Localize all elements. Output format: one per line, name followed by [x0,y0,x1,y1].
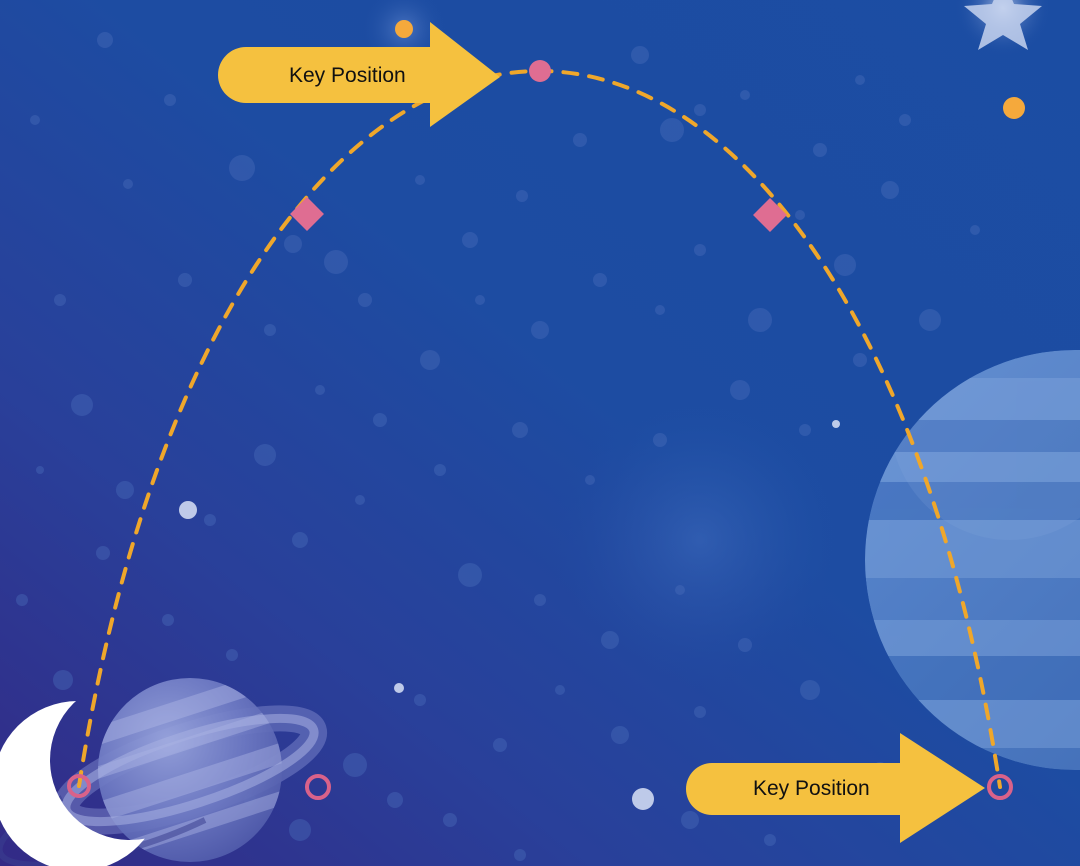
marker-apex[interactable] [529,60,551,82]
crescent-moon [0,690,200,866]
space-trajectory-scene: Key Position Key Position [0,0,1080,866]
scene-canvas [0,0,1080,866]
orange-dot-right [1003,97,1025,119]
